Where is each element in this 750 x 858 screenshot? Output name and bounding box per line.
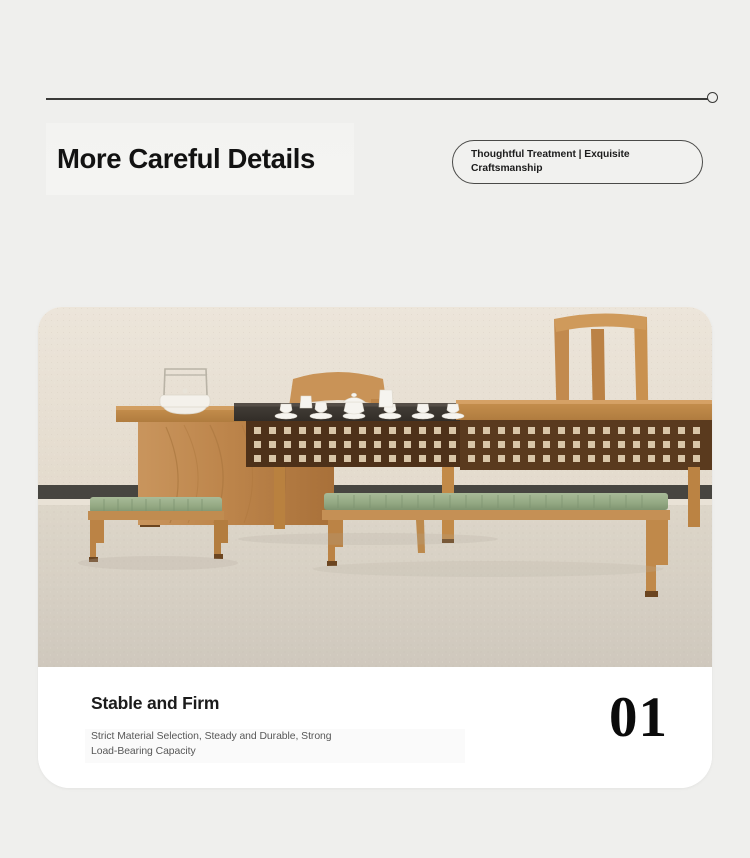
- divider-end-circle-icon: [707, 92, 718, 103]
- tagline-line-2: Craftsmanship: [471, 163, 542, 174]
- caption-index-number: 01: [609, 689, 668, 746]
- feature-card: Stable and Firm Strict Material Selectio…: [38, 307, 712, 788]
- caption-subtitle-line-1: Strict Material Selection, Steady and Du…: [91, 731, 332, 742]
- caption-heading: Stable and Firm: [91, 693, 219, 714]
- product-photo-illustration: [38, 307, 712, 667]
- caption-subtitle-line-2: Load-Bearing Capacity: [91, 746, 196, 757]
- section-title-block: More Careful Details: [46, 123, 354, 195]
- tagline-badge: Thoughtful Treatment | Exquisite Craftsm…: [452, 140, 703, 184]
- tagline-badge-label: Thoughtful Treatment | Exquisite Craftsm…: [453, 148, 648, 175]
- page-title: More Careful Details: [46, 144, 315, 174]
- divider-line: [46, 98, 708, 100]
- product-photo: [38, 307, 712, 667]
- tagline-line-1: Thoughtful Treatment | Exquisite: [471, 149, 630, 160]
- header-divider: [46, 92, 718, 106]
- caption-subtitle: Strict Material Selection, Steady and Du…: [91, 729, 451, 759]
- card-caption: Stable and Firm Strict Material Selectio…: [38, 667, 712, 788]
